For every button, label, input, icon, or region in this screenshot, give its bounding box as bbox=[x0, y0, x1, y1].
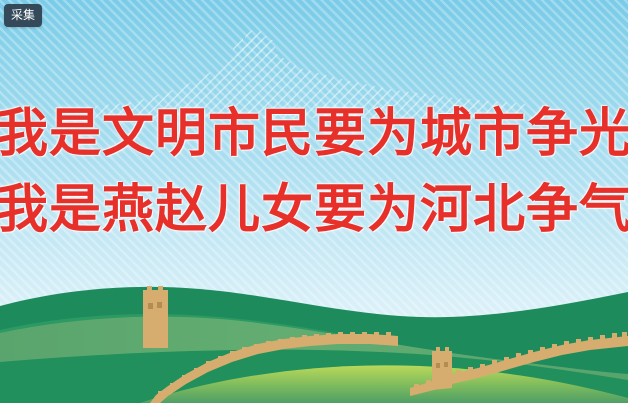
slogan-line-2: 我是燕赵儿女 要为河北争气 bbox=[0, 172, 628, 248]
poster-banner: 我是文明市民 要为城市争光 我是燕赵儿女 要为河北争气 bbox=[0, 0, 628, 403]
slogan-block: 我是文明市民 要为城市争光 我是燕赵儿女 要为河北争气 bbox=[0, 96, 628, 248]
capture-button[interactable]: 采集 bbox=[4, 4, 42, 27]
slogan-line-2-left: 我是燕赵儿女 bbox=[0, 172, 314, 248]
slogan-line-1-left: 我是文明市民 bbox=[0, 96, 314, 172]
slogan-line-1-right: 要为城市争光 bbox=[314, 96, 628, 172]
slogan-line-1: 我是文明市民 要为城市争光 bbox=[0, 96, 628, 172]
slogan-line-2-right: 要为河北争气 bbox=[314, 172, 628, 248]
